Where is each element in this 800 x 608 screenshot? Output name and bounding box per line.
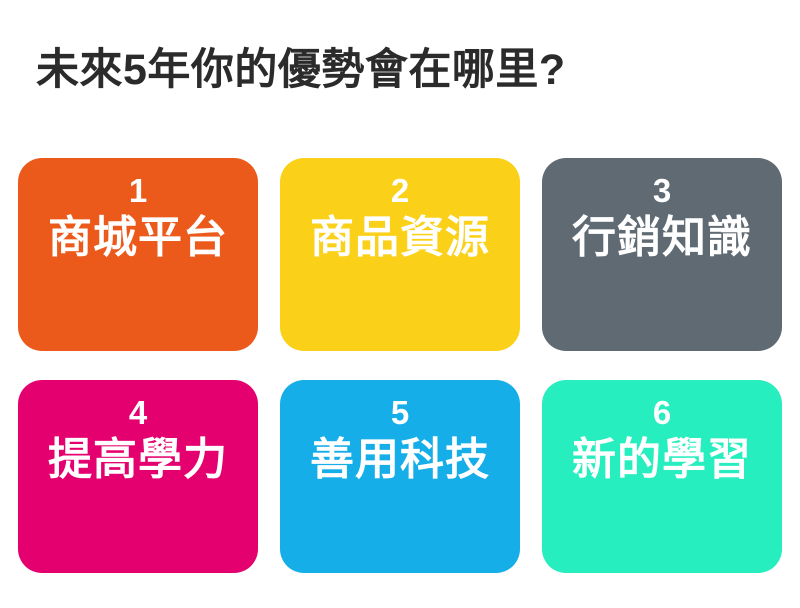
card-grid: 1 商城平台 2 商品資源 3 行銷知識 4 提高學力 5 善用科技 6 新的學… bbox=[18, 158, 783, 573]
card-label: 商城平台 bbox=[48, 211, 228, 265]
card-use-technology-well[interactable]: 5 善用科技 bbox=[280, 380, 520, 573]
page-title: 未來5年你的優勢會在哪里? bbox=[36, 41, 766, 99]
card-marketing-knowledge[interactable]: 3 行銷知識 bbox=[542, 158, 782, 351]
card-label: 提高學力 bbox=[48, 433, 228, 487]
slide-canvas: 未來5年你的優勢會在哪里? 1 商城平台 2 商品資源 3 行銷知識 4 提高學… bbox=[0, 0, 800, 608]
card-label: 善用科技 bbox=[310, 433, 490, 487]
card-shopping-platform[interactable]: 1 商城平台 bbox=[18, 158, 258, 351]
card-number: 1 bbox=[129, 174, 147, 209]
card-number: 5 bbox=[391, 396, 409, 431]
card-number: 3 bbox=[653, 174, 671, 209]
card-improve-learning-ability[interactable]: 4 提高學力 bbox=[18, 380, 258, 573]
card-label: 新的學習 bbox=[572, 433, 752, 487]
card-product-resources[interactable]: 2 商品資源 bbox=[280, 158, 520, 351]
card-number: 4 bbox=[129, 396, 147, 431]
card-label: 商品資源 bbox=[310, 211, 490, 265]
card-new-learning[interactable]: 6 新的學習 bbox=[542, 380, 782, 573]
card-number: 2 bbox=[391, 174, 409, 209]
card-number: 6 bbox=[653, 396, 671, 431]
card-label: 行銷知識 bbox=[572, 211, 752, 265]
